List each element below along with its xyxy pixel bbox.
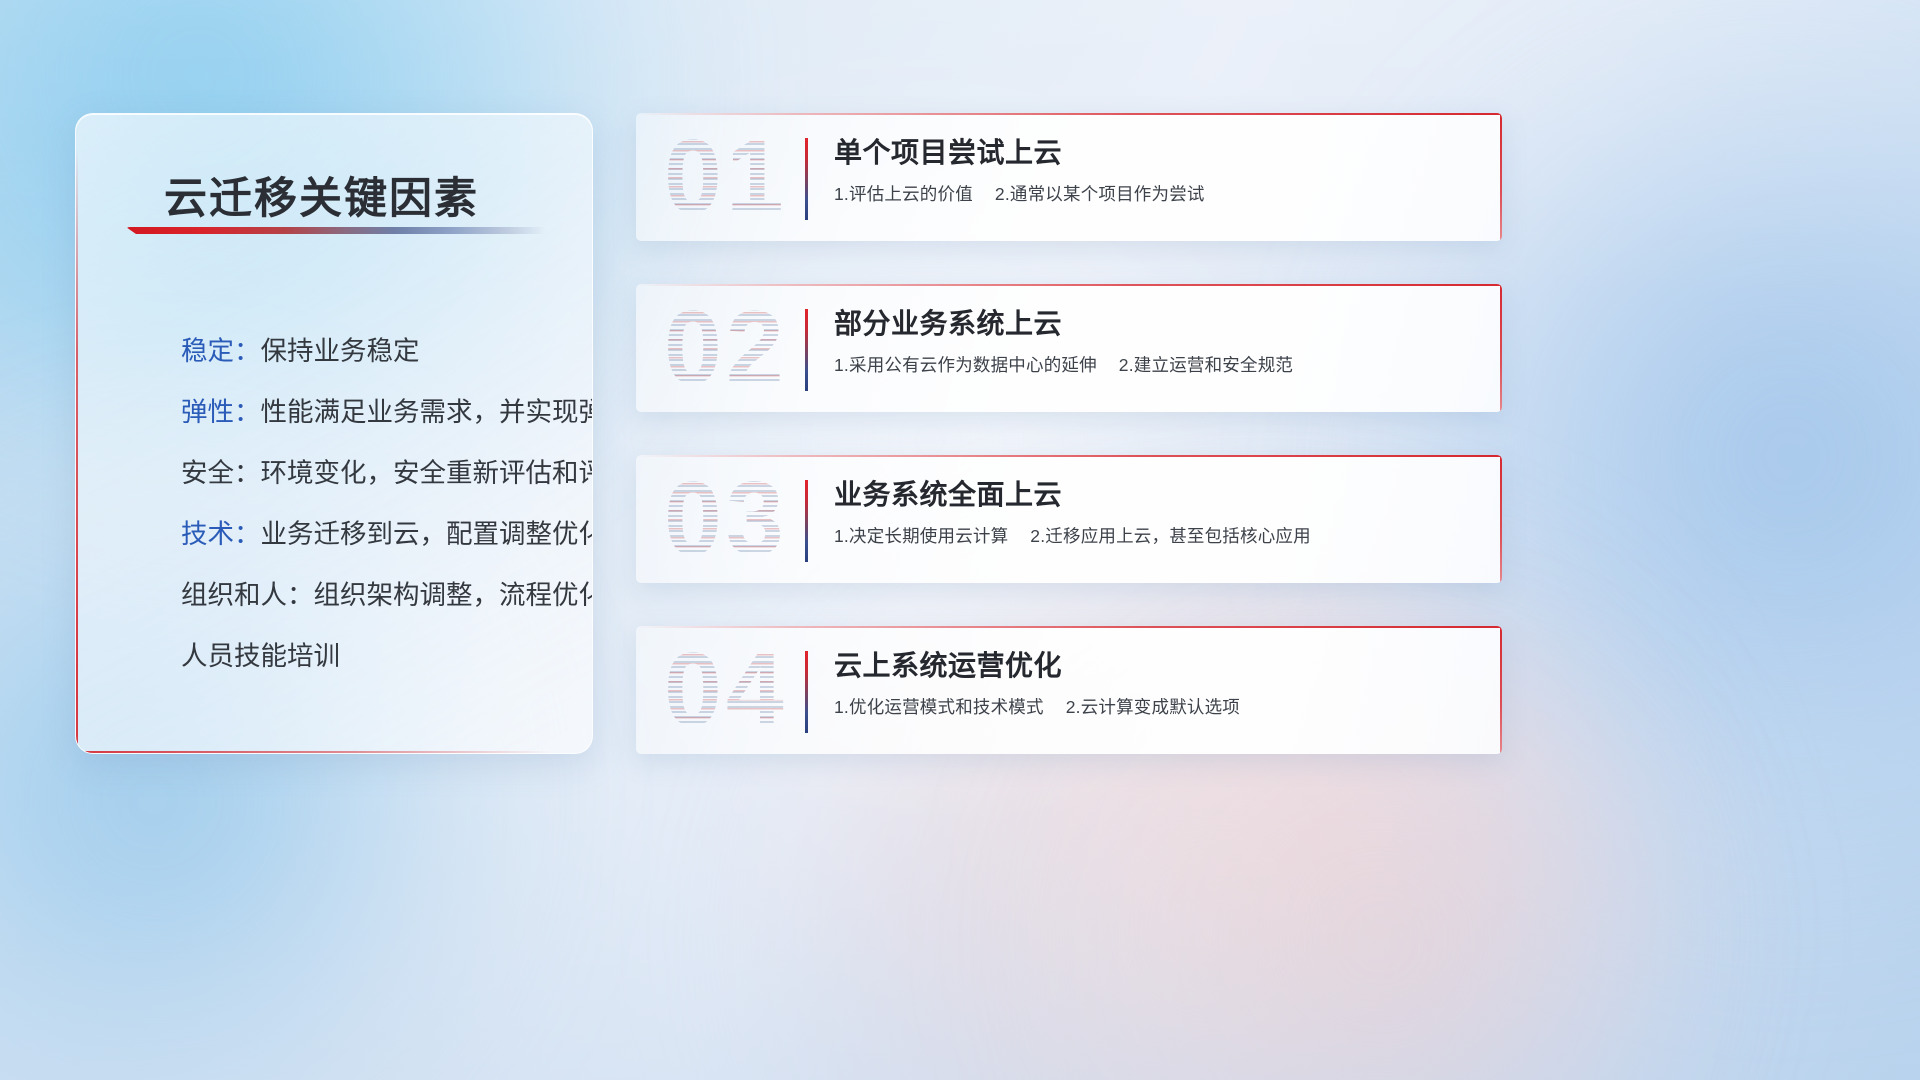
- step-title: 单个项目尝试上云: [834, 133, 1480, 173]
- key-factors-panel: 云迁移关键因素 稳定：保持业务稳定 弹性：性能满足业务需求，并实现弹性 安全：环…: [75, 113, 593, 754]
- key-factors-list: 稳定：保持业务稳定 弹性：性能满足业务需求，并实现弹性 安全：环境变化，安全重新…: [181, 321, 564, 687]
- factor-item-technology: 技术：业务迁移到云，配置调整优化: [181, 504, 564, 565]
- step-description: 1.优化运营模式和技术模式2.云计算变成默认选项: [834, 694, 1480, 719]
- factor-item-organization: 组织和人：组织架构调整，流程优化，: [181, 565, 564, 626]
- factor-label: 安全：: [181, 458, 261, 488]
- factor-text: 保持业务稳定: [261, 336, 420, 366]
- step-title: 云上系统运营优化: [834, 646, 1480, 686]
- step-description: 1.决定长期使用云计算2.迁移应用上云，甚至包括核心应用: [834, 523, 1480, 548]
- step-description-part-2: 2.迁移应用上云，甚至包括核心应用: [1030, 526, 1311, 546]
- step-content: 单个项目尝试上云 1.评估上云的价值2.通常以某个项目作为尝试: [834, 133, 1480, 206]
- factor-label: 技术：: [181, 519, 261, 549]
- step-description-part-1: 1.优化运营模式和技术模式: [834, 697, 1044, 717]
- factor-label: 弹性：: [181, 397, 261, 427]
- step-number-tint: 02: [664, 294, 788, 402]
- factor-text: 业务迁移到云，配置调整优化: [261, 519, 594, 549]
- title-underline-accent: [126, 227, 546, 234]
- factor-item-security: 安全：环境变化，安全重新评估和评审: [181, 443, 564, 504]
- step-divider-accent: [805, 309, 808, 391]
- slide-stage: 云迁移关键因素 稳定：保持业务稳定 弹性：性能满足业务需求，并实现弹性 安全：环…: [0, 0, 1920, 1080]
- page-title: 云迁移关键因素: [164, 164, 479, 226]
- step-description-part-1: 1.决定长期使用云计算: [834, 526, 1008, 546]
- factor-text: 组织架构调整，流程优化，: [314, 580, 594, 610]
- step-card-02[interactable]: 02 02 部分业务系统上云 1.采用公有云作为数据中心的延伸2.建立运营和安全…: [636, 284, 1502, 412]
- factor-label: 稳定：: [181, 336, 261, 366]
- step-card-01[interactable]: 01 01 单个项目尝试上云 1.评估上云的价值2.通常以某个项目作为尝试: [636, 113, 1502, 241]
- step-description-part-2: 2.云计算变成默认选项: [1066, 697, 1240, 717]
- factor-text: 人员技能培训: [181, 641, 340, 671]
- factor-item-elasticity: 弹性：性能满足业务需求，并实现弹性: [181, 382, 564, 443]
- step-description-part-2: 2.建立运营和安全规范: [1119, 355, 1293, 375]
- step-content: 业务系统全面上云 1.决定长期使用云计算2.迁移应用上云，甚至包括核心应用: [834, 475, 1480, 548]
- step-number-tint: 01: [664, 123, 788, 231]
- factor-text: 性能满足业务需求，并实现弹性: [261, 397, 594, 427]
- factor-label: 组织和人：: [181, 580, 314, 610]
- step-number-tint: 04: [664, 636, 788, 744]
- factor-item-stability: 稳定：保持业务稳定: [181, 321, 564, 382]
- step-card-04[interactable]: 04 04 云上系统运营优化 1.优化运营模式和技术模式2.云计算变成默认选项: [636, 626, 1502, 754]
- step-description-part-2: 2.通常以某个项目作为尝试: [995, 184, 1205, 204]
- step-title: 业务系统全面上云: [834, 475, 1480, 515]
- step-title: 部分业务系统上云: [834, 304, 1480, 344]
- factor-text: 环境变化，安全重新评估和评审: [261, 458, 594, 488]
- step-description-part-1: 1.采用公有云作为数据中心的延伸: [834, 355, 1097, 375]
- factor-item-organization-cont: 人员技能培训: [181, 626, 564, 687]
- step-content: 部分业务系统上云 1.采用公有云作为数据中心的延伸2.建立运营和安全规范: [834, 304, 1480, 377]
- step-divider-accent: [805, 480, 808, 562]
- step-description: 1.评估上云的价值2.通常以某个项目作为尝试: [834, 181, 1480, 206]
- step-divider-accent: [805, 138, 808, 220]
- migration-steps-list: 01 01 单个项目尝试上云 1.评估上云的价值2.通常以某个项目作为尝试 02…: [636, 113, 1502, 797]
- step-divider-accent: [805, 651, 808, 733]
- step-description-part-1: 1.评估上云的价值: [834, 184, 973, 204]
- step-content: 云上系统运营优化 1.优化运营模式和技术模式2.云计算变成默认选项: [834, 646, 1480, 719]
- step-description: 1.采用公有云作为数据中心的延伸2.建立运营和安全规范: [834, 352, 1480, 377]
- step-number-tint: 03: [664, 465, 788, 573]
- step-card-03[interactable]: 03 03 业务系统全面上云 1.决定长期使用云计算2.迁移应用上云，甚至包括核…: [636, 455, 1502, 583]
